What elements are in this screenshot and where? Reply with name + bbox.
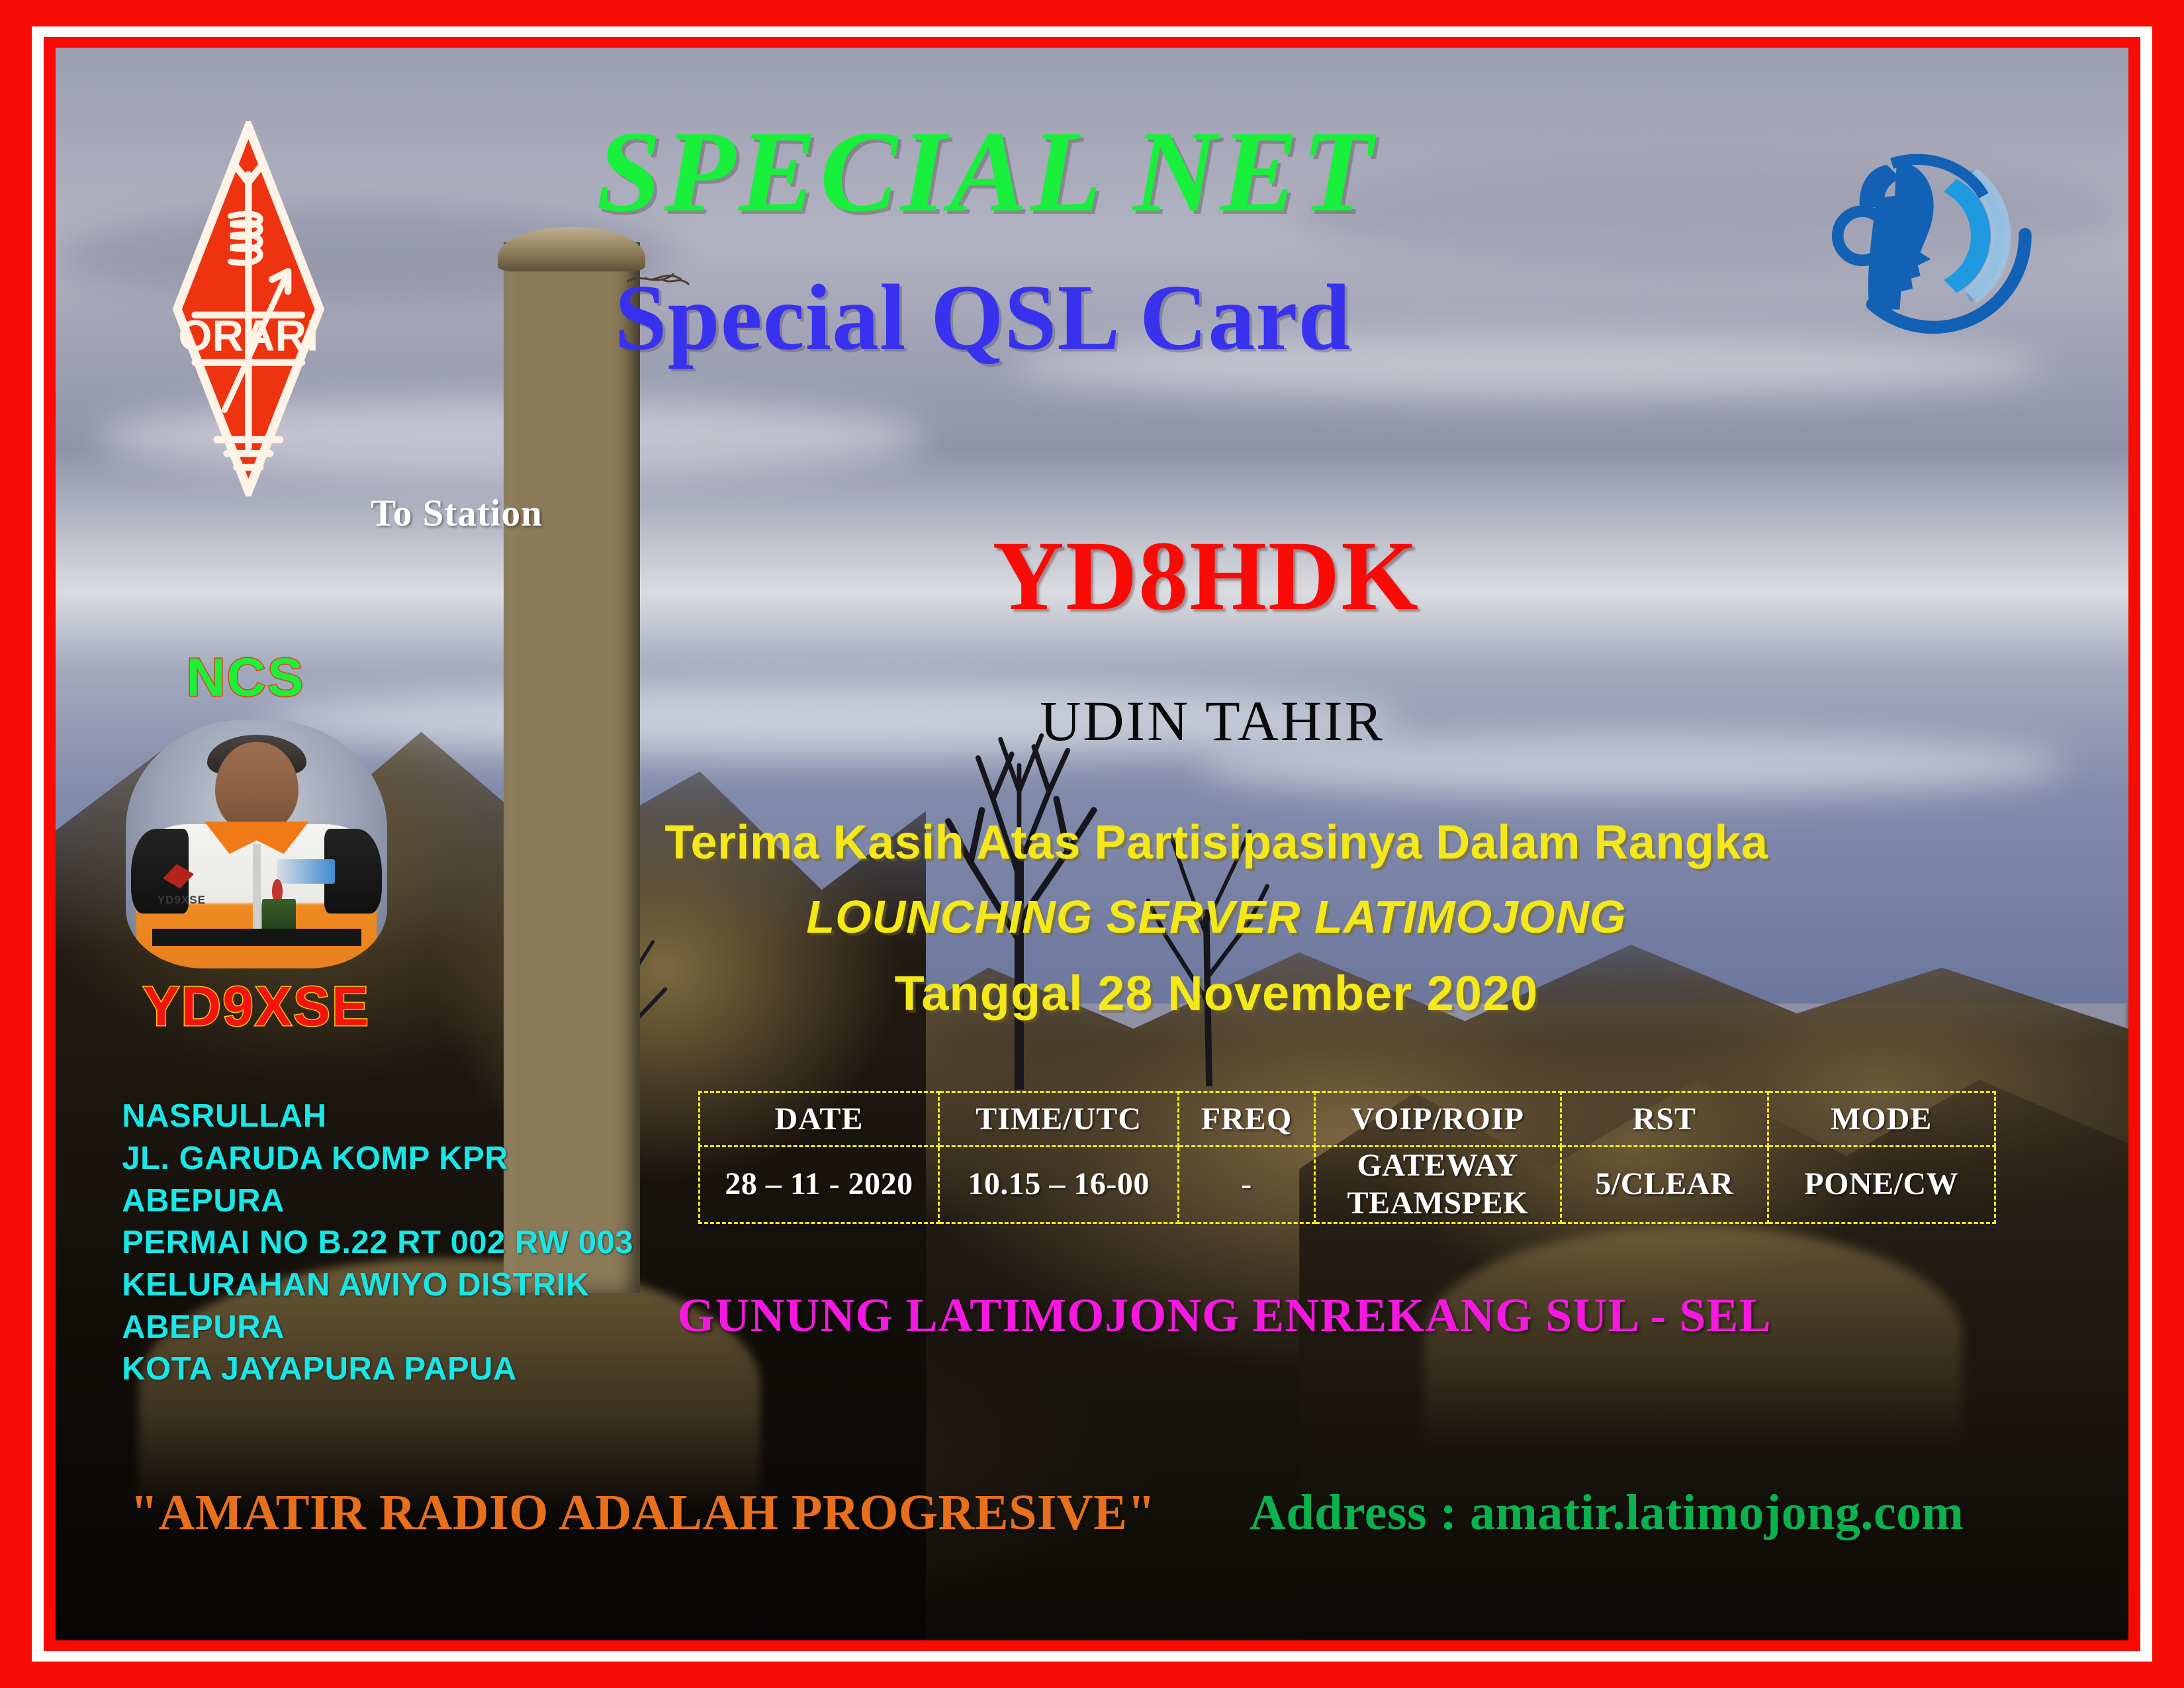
portrait-belt [152,929,361,946]
table-header-row: DATE TIME/UTC FREQ VOIP/ROIP RST MODE [699,1092,1995,1146]
qsl-card: ORARI [0,0,2184,1688]
cell-rst: 5/CLEAR [1561,1146,1768,1223]
address-line: PERMAI NO B.22 RT 002 RW 003 [122,1222,633,1264]
address-line: KELURAHAN AWIYO DISTRIK [122,1264,633,1307]
orari-logo-text: ORARI [178,310,318,359]
cell-mode: PONE/CW [1768,1146,1995,1223]
address-line: ABEPURA [122,1307,633,1349]
portrait-uniform-callsign: YD9XSE [158,894,206,907]
cell-voip: GATEWAY TEAMSPEK [1314,1146,1561,1223]
address-line: KOTA JAYAPURA PAPUA [122,1348,633,1391]
slogan-text: "AMATIR RADIO ADALAH PROGRESIVE" [130,1484,1156,1542]
column-header-rst: RST [1561,1092,1768,1146]
event-date-line: Tanggal 28 November 2020 [895,965,1539,1021]
thanks-line: Terima Kasih Atas Partisipasinya Dalam R… [664,816,1768,870]
portrait-id-badge [262,899,296,931]
cell-time: 10.15 – 16-00 [939,1146,1179,1223]
station-callsign: YD8HDK [993,519,1420,633]
portrait-club-patch [277,859,335,884]
cell-date: 28 – 11 - 2020 [699,1146,938,1223]
address-line: ABEPURA [122,1180,633,1223]
column-header-mode: MODE [1768,1092,1995,1146]
page-title: SPECIAL NET [596,105,1376,239]
column-header-freq: FREQ [1179,1092,1315,1146]
portrait-shirt-placket [253,844,261,933]
event-name-line: LOUNCHING SERVER LATIMOJONG [806,890,1626,943]
location-caption: GUNUNG LATIMOJONG ENREKANG SUL - SEL [678,1288,1772,1343]
to-station-label: To Station [371,492,543,535]
ncs-callsign: YD9XSE [143,974,371,1039]
column-header-date: DATE [699,1092,938,1146]
column-header-voip: VOIP/ROIP [1314,1092,1561,1146]
web-address-text: Address : amatir.latimojong.com [1250,1484,1964,1542]
background-photo-mountain-scene: ORARI [56,48,2128,1640]
address-line: JL. GARUDA KOMP KPR [122,1138,633,1180]
card-white-frame: ORARI [32,26,2152,1662]
net-headset-profile-logo [1830,121,2050,350]
ncs-label: NCS [186,647,304,709]
column-header-time: TIME/UTC [939,1092,1179,1146]
table-row: 28 – 11 - 2020 10.15 – 16-00 - GATEWAY T… [699,1146,1995,1223]
operator-name: UDIN TAHIR [1040,688,1385,754]
cell-freq: - [1179,1146,1315,1223]
orari-logo: ORARI [149,121,348,497]
ncs-operator-portrait: YD9XSE [126,720,387,968]
recipient-address-block: NASRULLAH JL. GARUDA KOMP KPR ABEPURA PE… [122,1096,633,1391]
portrait-face [215,742,298,831]
qso-details-table: DATE TIME/UTC FREQ VOIP/ROIP RST MODE 28… [698,1091,1996,1169]
card-inner-red-frame: ORARI [44,37,2140,1651]
page-subtitle: Special QSL Card [615,263,1351,371]
address-line: NASRULLAH [122,1096,633,1138]
